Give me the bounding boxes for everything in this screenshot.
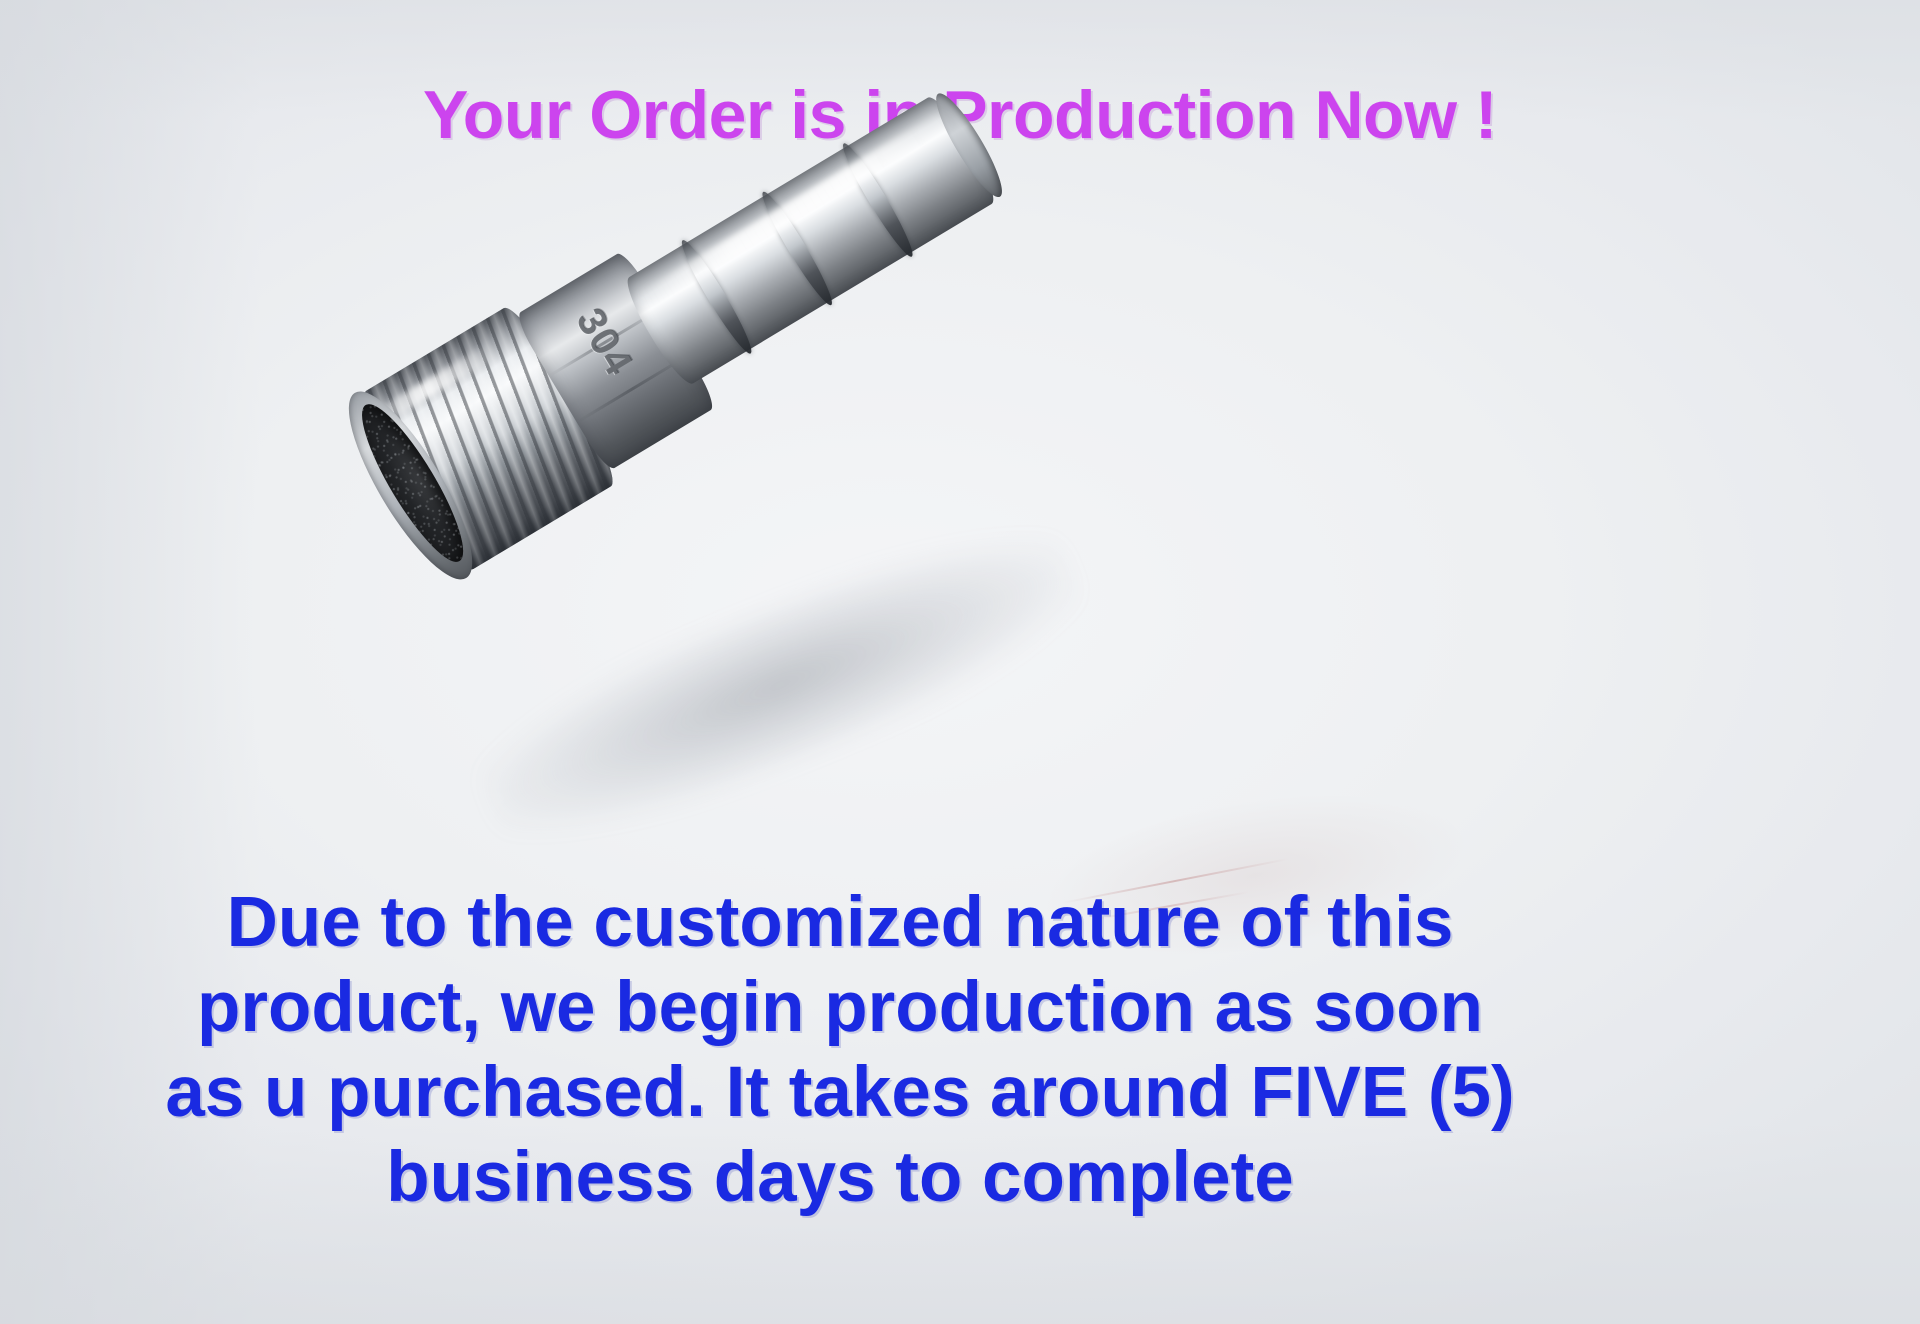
promo-image-canvas: Your Order is in Production Now ! 304 Du…: [0, 0, 1920, 1324]
production-notice-line: product, we begin production as soon: [110, 965, 1570, 1050]
production-notice-line: as u purchased. It takes around FIVE (5): [110, 1050, 1570, 1135]
production-notice-line: Due to the customized nature of this: [110, 880, 1570, 965]
production-notice: Due to the customized nature of this pro…: [110, 880, 1570, 1220]
production-notice-line: business days to complete: [110, 1135, 1570, 1220]
